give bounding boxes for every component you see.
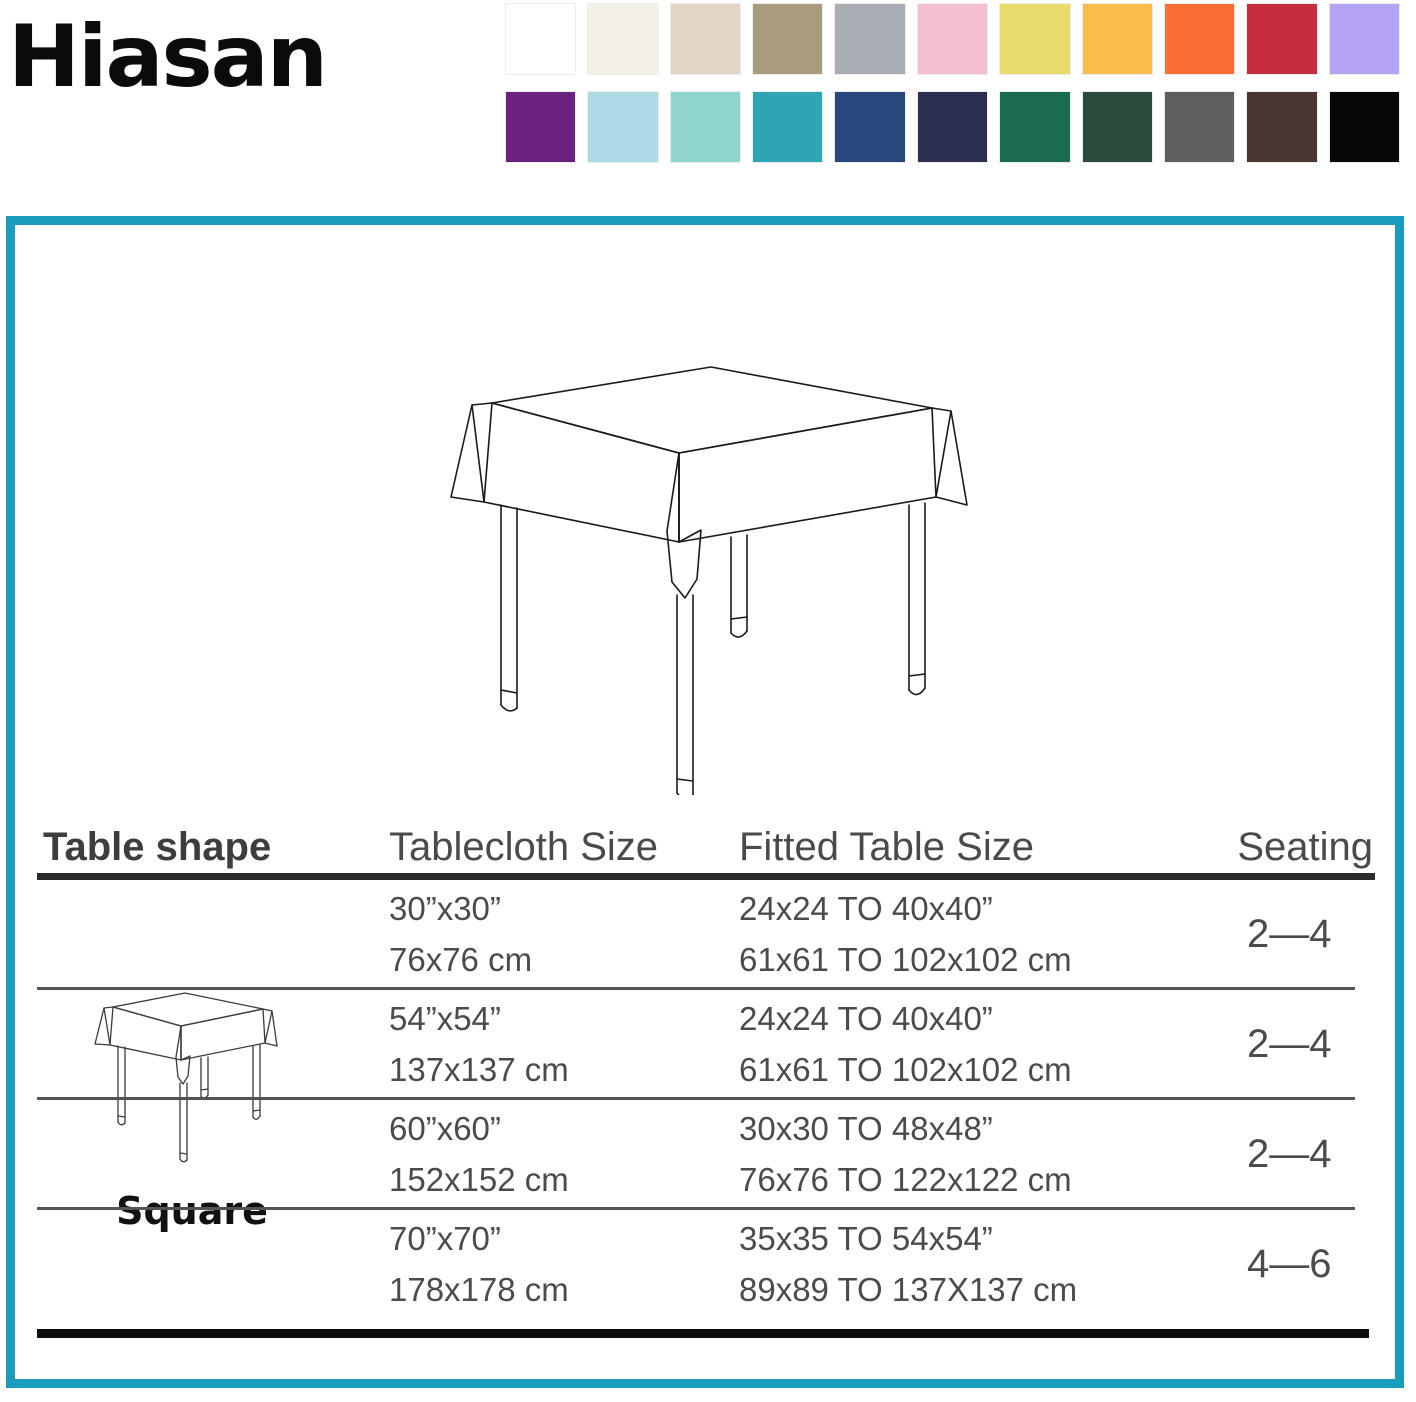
color-swatch-light-blue[interactable] xyxy=(588,92,657,162)
color-swatch-orange[interactable] xyxy=(1165,4,1234,74)
header-band: Hiasan xyxy=(0,0,1416,200)
brand-logo: Hiasan xyxy=(8,14,326,100)
color-swatch-dark-brown[interactable] xyxy=(1247,92,1316,162)
cell-fitted-size-inches: 30x30 TO 48x48” xyxy=(739,1112,993,1145)
color-swatch-crimson-red[interactable] xyxy=(1247,4,1316,74)
table-row: 54”x54”137x137 cm24x24 TO 40x40”61x61 TO… xyxy=(37,990,1377,1097)
column-header-seating: Seating xyxy=(1237,827,1373,867)
table-row: 60”x60”152x152 cm30x30 TO 48x48”76x76 TO… xyxy=(37,1100,1377,1207)
color-swatch-yellow[interactable] xyxy=(1000,4,1069,74)
cell-tablecloth-size-cm: 178x178 cm xyxy=(389,1273,569,1306)
color-swatch-hunter-green[interactable] xyxy=(1083,92,1152,162)
specification-table: Table shape Tablecloth Size Fitted Table… xyxy=(37,805,1377,1338)
swatch-row-1 xyxy=(506,4,1412,76)
cell-seating: 2—4 xyxy=(1247,1134,1332,1174)
cell-tablecloth-size-inches: 70”x70” xyxy=(389,1222,501,1255)
table-row: 30”x30”76x76 cm24x24 TO 40x40”61x61 TO 1… xyxy=(37,880,1377,987)
cell-seating: 4—6 xyxy=(1247,1244,1332,1284)
cell-tablecloth-size-inches: 54”x54” xyxy=(389,1002,501,1035)
cell-seating: 2—4 xyxy=(1247,914,1332,954)
table-row: 70”x70”178x178 cm35x35 TO 54x54”89x89 TO… xyxy=(37,1210,1377,1317)
draped-square-table-illustration-icon xyxy=(439,345,979,795)
color-swatch-emerald[interactable] xyxy=(1000,92,1069,162)
table-body: 30”x30”76x76 cm24x24 TO 40x40”61x61 TO 1… xyxy=(37,880,1377,1317)
color-swatch-black[interactable] xyxy=(1330,92,1399,162)
column-header-fitted-table-size: Fitted Table Size xyxy=(739,827,1034,867)
color-swatch-beige[interactable] xyxy=(671,4,740,74)
color-swatch-taupe[interactable] xyxy=(753,4,822,74)
cell-fitted-size-cm: 89x89 TO 137X137 cm xyxy=(739,1273,1077,1306)
color-swatch-aqua[interactable] xyxy=(671,92,740,162)
cell-fitted-size-cm: 61x61 TO 102x102 cm xyxy=(739,1053,1072,1086)
header-divider xyxy=(37,873,1375,880)
color-swatch-silver-gray[interactable] xyxy=(835,4,904,74)
cell-fitted-size-cm: 76x76 TO 122x122 cm xyxy=(739,1163,1072,1196)
swatch-row-2 xyxy=(506,92,1412,164)
color-swatch-denim-blue[interactable] xyxy=(835,92,904,162)
color-swatch-amber[interactable] xyxy=(1083,4,1152,74)
cell-tablecloth-size-inches: 60”x60” xyxy=(389,1112,501,1145)
cell-fitted-size-inches: 35x35 TO 54x54” xyxy=(739,1222,993,1255)
cell-fitted-size-cm: 61x61 TO 102x102 cm xyxy=(739,943,1072,976)
color-swatch-charcoal-gray[interactable] xyxy=(1165,92,1234,162)
color-swatch-teal[interactable] xyxy=(753,92,822,162)
color-swatch-panel xyxy=(506,4,1412,174)
table-header-row: Table shape Tablecloth Size Fitted Table… xyxy=(37,805,1377,867)
column-header-shape: Table shape xyxy=(43,827,271,867)
color-swatch-white[interactable] xyxy=(506,4,575,74)
cell-fitted-size-inches: 24x24 TO 40x40” xyxy=(739,1002,993,1035)
cell-tablecloth-size-inches: 30”x30” xyxy=(389,892,501,925)
table-bottom-rule xyxy=(37,1329,1369,1338)
color-swatch-lavender[interactable] xyxy=(1330,4,1399,74)
color-swatch-navy[interactable] xyxy=(918,92,987,162)
cell-fitted-size-inches: 24x24 TO 40x40” xyxy=(739,892,993,925)
color-swatch-purple[interactable] xyxy=(506,92,575,162)
column-header-tablecloth-size: Tablecloth Size xyxy=(389,827,658,867)
cell-seating: 2—4 xyxy=(1247,1024,1332,1064)
cell-tablecloth-size-cm: 76x76 cm xyxy=(389,943,532,976)
color-swatch-blush-pink[interactable] xyxy=(918,4,987,74)
main-content-frame: Square Table shape Tablecloth Size Fitte… xyxy=(6,216,1404,1388)
cell-tablecloth-size-cm: 137x137 cm xyxy=(389,1053,569,1086)
color-swatch-ivory[interactable] xyxy=(588,4,657,74)
cell-tablecloth-size-cm: 152x152 cm xyxy=(389,1163,569,1196)
